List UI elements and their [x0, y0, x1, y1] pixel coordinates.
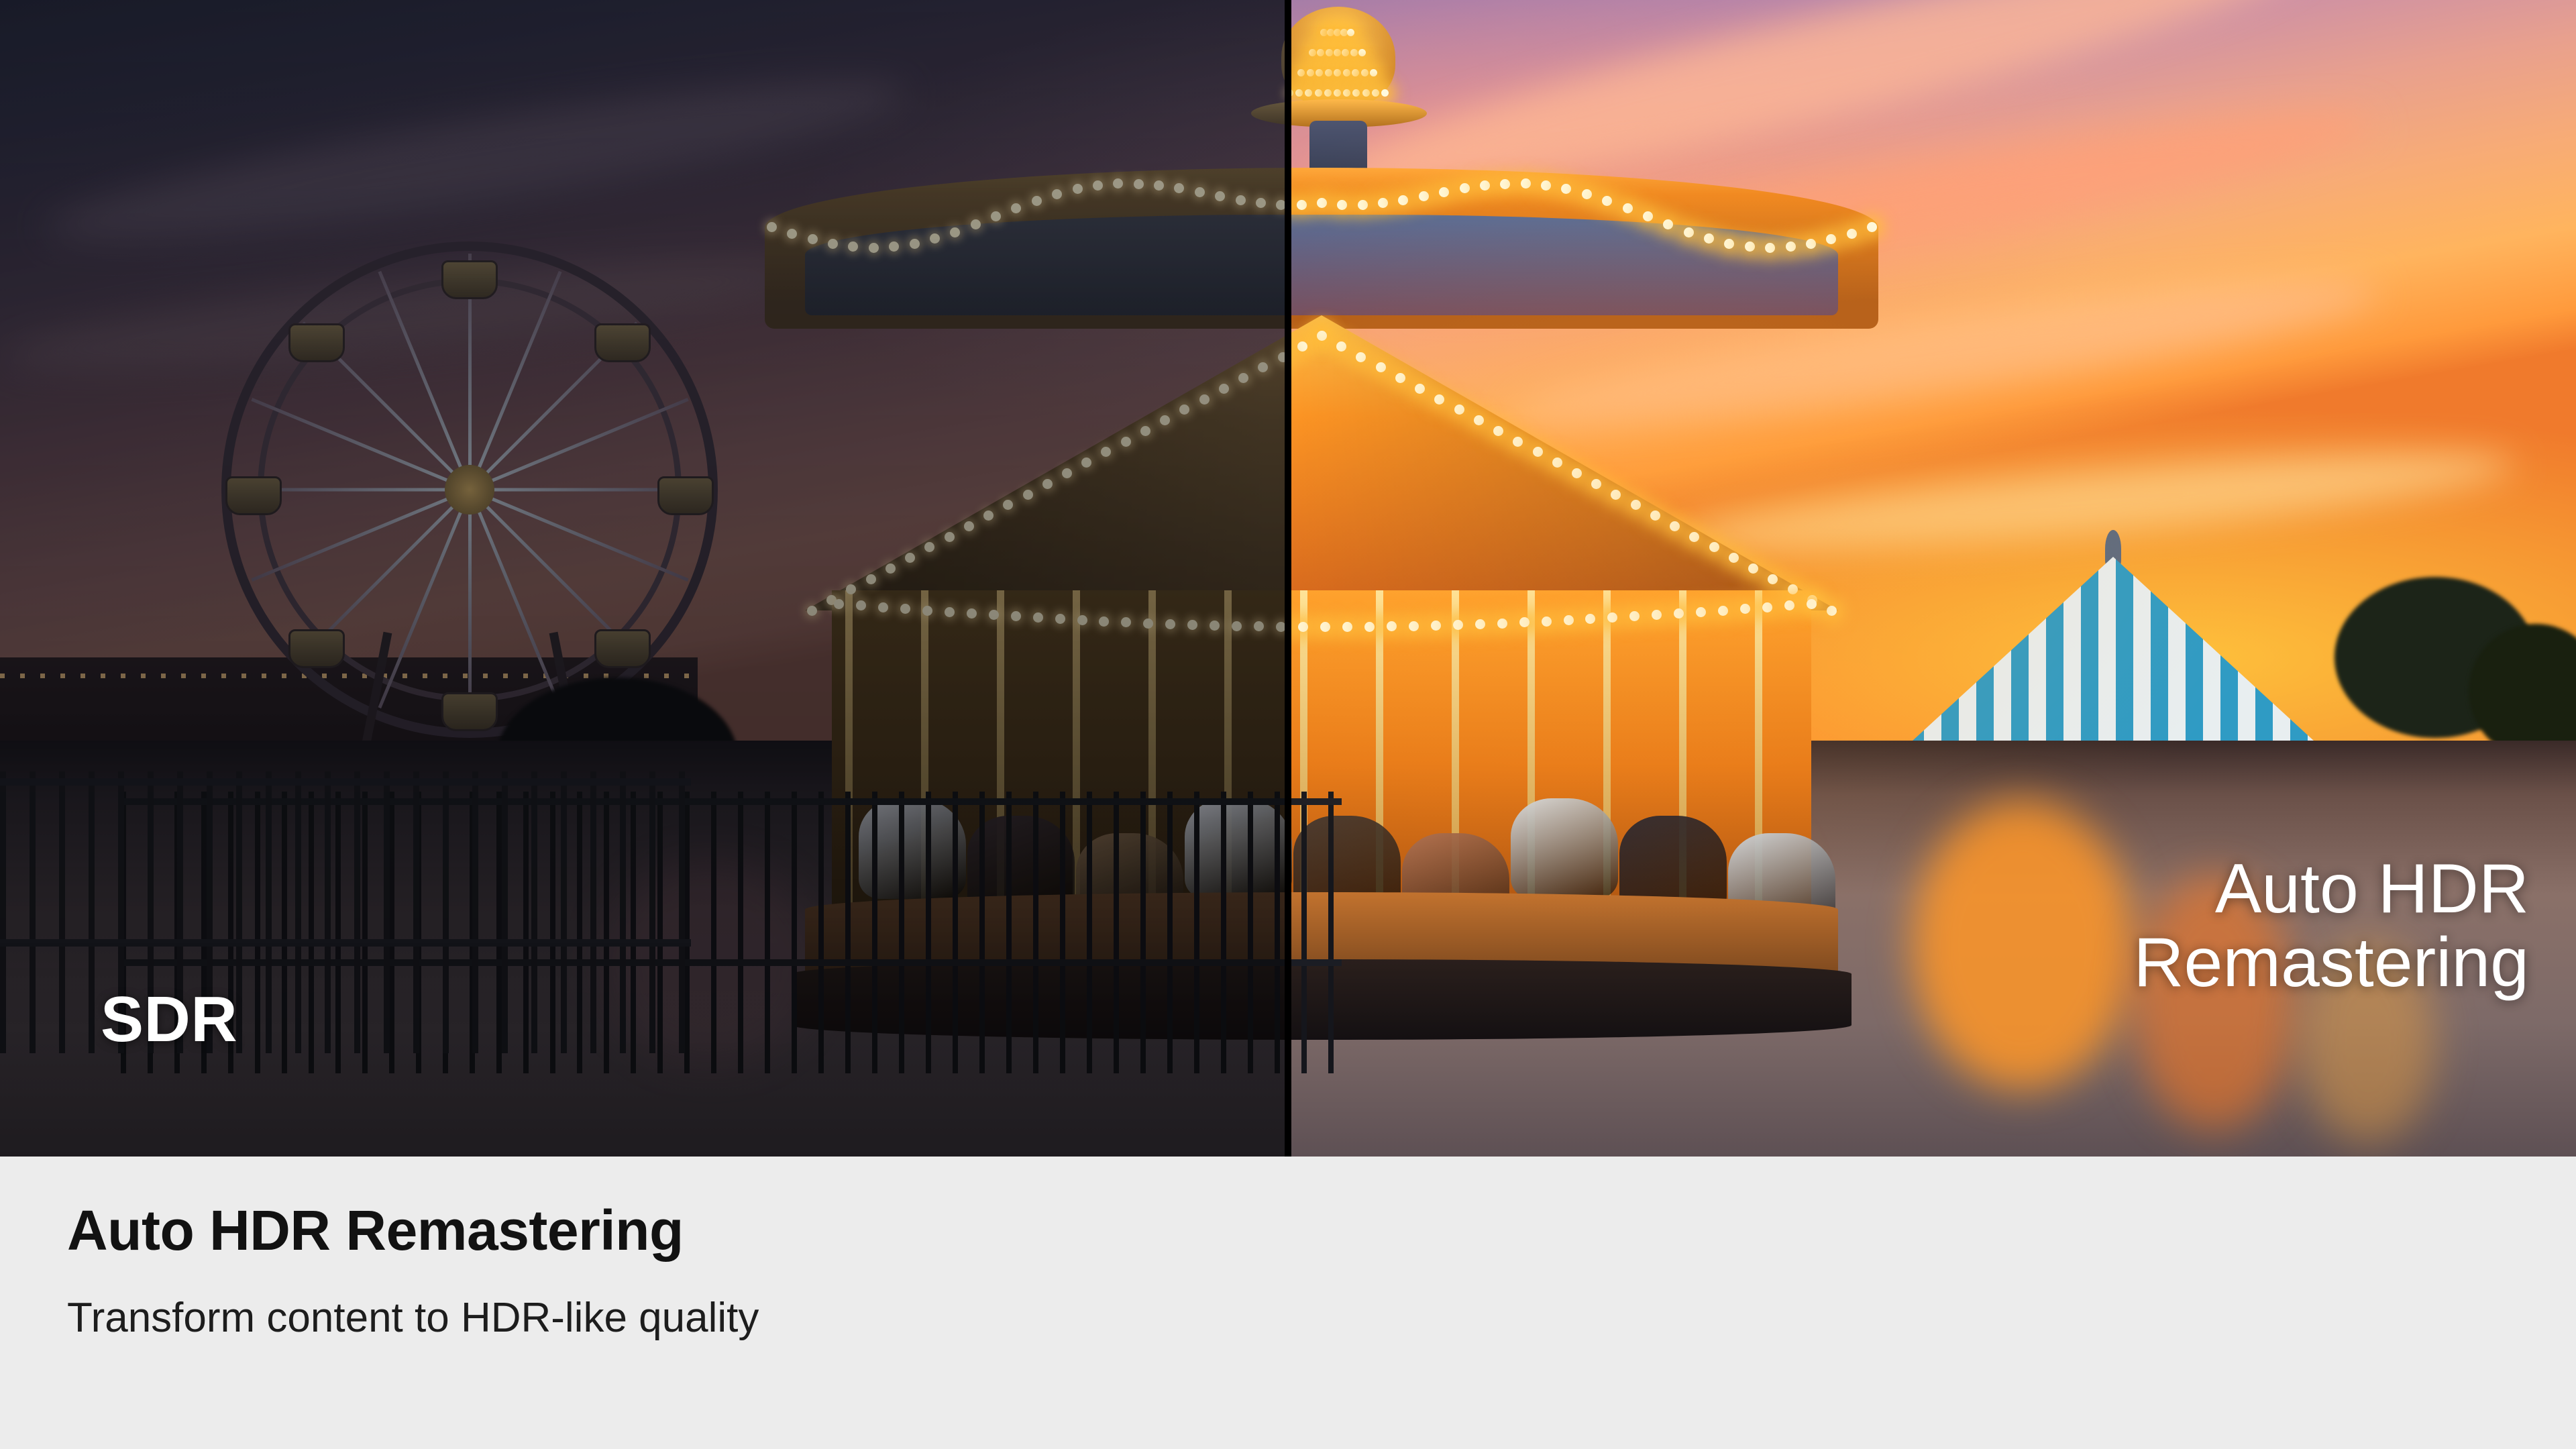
light-bulb: [1350, 49, 1358, 56]
light-bulb: [964, 521, 974, 531]
light-bulb: [1337, 200, 1347, 210]
light-bulb: [1807, 599, 1817, 609]
light-bulb: [1480, 180, 1490, 191]
light-bulb: [1387, 621, 1397, 631]
light-bulb: [971, 219, 981, 229]
ferris-wheel-gondola: [441, 692, 498, 731]
light-bulb: [787, 229, 797, 239]
light-bulb: [1521, 178, 1531, 189]
light-bulb: [1745, 241, 1755, 252]
light-bulb: [1042, 479, 1053, 489]
light-bulb: [1827, 606, 1837, 616]
light-bulb: [1454, 405, 1464, 415]
light-bulb: [1519, 617, 1529, 627]
light-bulb: [1361, 69, 1368, 76]
light-bulb: [1309, 49, 1316, 56]
light-bulb: [1631, 500, 1641, 510]
light-bulb: [1295, 89, 1303, 97]
light-bulb: [1134, 179, 1144, 189]
sdr-overlay-label: SDR: [101, 983, 237, 1057]
light-bulb: [1372, 89, 1379, 97]
light-bulb: [1493, 426, 1503, 436]
light-bulb: [1334, 89, 1341, 97]
hdr-overlay-label-line1: Auto HDR: [2133, 852, 2529, 926]
ferris-wheel-hub: [445, 465, 494, 515]
light-bulb: [1806, 239, 1816, 249]
light-bulb: [1298, 622, 1308, 632]
light-bulb: [1768, 574, 1778, 584]
light-bulb: [1542, 616, 1552, 627]
light-bulb: [1336, 341, 1346, 352]
light-bulb: [989, 610, 999, 620]
carousel: [1291, 0, 2012, 1046]
light-bulb: [1052, 189, 1062, 199]
light-bulb: [1453, 620, 1463, 630]
light-bulb: [1055, 614, 1065, 624]
light-bulb: [1297, 200, 1307, 210]
light-bulb: [1643, 211, 1653, 221]
light-bulb: [1334, 69, 1341, 76]
light-bulb: [1696, 607, 1706, 617]
before-after-comparison-viewer[interactable]: SDR Auto HDR Remastering: [0, 0, 2576, 1157]
light-bulb: [1232, 621, 1242, 631]
light-bulb: [1381, 89, 1389, 97]
light-bulb: [1023, 490, 1033, 500]
ferris-wheel-gondola: [288, 629, 345, 668]
light-bulb: [1210, 621, 1220, 631]
light-bulb: [1670, 521, 1680, 531]
feature-caption-panel: Auto HDR Remastering Transform content t…: [0, 1157, 2576, 1449]
light-bulb: [1342, 49, 1349, 56]
ferris-wheel-gondola: [225, 476, 282, 515]
comparison-divider[interactable]: [1285, 0, 1291, 1157]
light-bulb: [1497, 619, 1507, 629]
light-bulb: [1343, 89, 1350, 97]
light-bulb: [1362, 89, 1370, 97]
light-bulb: [945, 607, 955, 617]
light-bulb: [1709, 542, 1719, 552]
light-bulb: [1623, 203, 1633, 213]
light-bulb: [1358, 49, 1366, 56]
light-bulb: [1460, 183, 1470, 193]
light-bulb: [885, 563, 896, 574]
light-bulb: [1572, 468, 1582, 478]
light-bulb: [1195, 187, 1205, 197]
light-bulb: [869, 243, 879, 253]
light-bulb: [945, 532, 955, 542]
light-bulb: [834, 599, 844, 609]
light-bulb: [1867, 222, 1877, 232]
light-bulb: [1500, 179, 1510, 189]
light-bulb: [1724, 239, 1734, 249]
light-bulb: [1847, 229, 1857, 239]
light-bulb: [1073, 184, 1083, 194]
light-bulb: [1343, 69, 1350, 76]
light-bulb: [1718, 606, 1728, 616]
light-bulb: [828, 239, 838, 249]
ferris-wheel-spoke: [468, 490, 472, 726]
light-bulb: [922, 606, 932, 616]
light-bulb: [967, 608, 977, 619]
light-bulb: [1077, 615, 1087, 625]
light-bulb: [1320, 622, 1330, 632]
carousel-horse: [1511, 798, 1618, 899]
light-bulb: [1358, 200, 1368, 210]
light-bulb: [807, 606, 817, 616]
light-bulb: [1297, 69, 1305, 76]
feature-title: Auto HDR Remastering: [67, 1198, 2576, 1263]
light-bulb: [1199, 394, 1210, 405]
light-bulb: [1342, 622, 1352, 632]
light-bulb: [1276, 622, 1285, 632]
light-bulb: [1650, 511, 1660, 521]
light-bulb: [1434, 394, 1444, 405]
light-bulb: [1316, 69, 1323, 76]
light-bulb: [1762, 602, 1772, 612]
light-bulb: [1611, 490, 1621, 500]
light-bulb: [1062, 468, 1072, 478]
light-bulb: [950, 227, 960, 237]
light-bulb: [1582, 189, 1592, 199]
light-bulb: [1786, 241, 1796, 252]
light-bulb: [1409, 621, 1419, 631]
hdr-overlay-label: Auto HDR Remastering: [2133, 852, 2529, 1000]
light-bulb: [1032, 196, 1042, 206]
light-bulb: [1552, 458, 1562, 468]
light-bulb: [910, 239, 920, 249]
light-bulb: [1765, 243, 1775, 253]
light-bulb: [1788, 584, 1798, 594]
light-bulb: [1317, 331, 1327, 341]
ferris-wheel-gondola: [441, 260, 498, 299]
light-bulb: [767, 222, 777, 232]
light-bulb: [1431, 621, 1441, 631]
light-bulb: [1317, 198, 1327, 208]
light-bulb: [1364, 622, 1375, 632]
light-bulb: [1748, 563, 1758, 574]
light-bulb: [1315, 89, 1322, 97]
light-bulb: [1011, 611, 1021, 621]
light-bulb: [1684, 227, 1694, 237]
light-bulb: [1352, 89, 1360, 97]
light-bulb: [1513, 437, 1523, 447]
light-bulb: [1370, 69, 1377, 76]
light-bulb: [1347, 29, 1354, 36]
light-bulb: [1395, 373, 1405, 383]
light-bulb: [1305, 89, 1312, 97]
light-bulb: [1602, 196, 1612, 206]
light-bulb: [1474, 415, 1484, 425]
feature-subtitle: Transform content to HDR-like quality: [67, 1294, 2576, 1342]
light-bulb: [1564, 615, 1574, 625]
hdr-overlay-label-line2: Remastering: [2133, 926, 2529, 1000]
light-bulb: [1140, 426, 1150, 436]
light-bulb: [1278, 352, 1285, 362]
light-bulb: [1236, 195, 1246, 205]
light-bulb: [866, 574, 876, 584]
light-bulb: [808, 234, 818, 244]
light-bulb: [1297, 341, 1307, 352]
light-bulb: [878, 602, 888, 612]
light-bulb: [1689, 532, 1699, 542]
light-bulb: [1256, 198, 1266, 208]
light-bulb: [1591, 479, 1601, 489]
light-bulb: [1276, 200, 1285, 210]
light-bulb: [1219, 384, 1229, 394]
light-bulb: [1121, 437, 1131, 447]
light-bulb: [1326, 49, 1333, 56]
ferris-wheel-gondola: [288, 323, 345, 362]
light-bulb: [1352, 69, 1359, 76]
light-bulb: [1475, 619, 1485, 629]
light-bulb: [1143, 619, 1153, 629]
light-bulb: [1729, 553, 1739, 563]
light-bulb: [1356, 352, 1366, 362]
light-bulb: [1317, 49, 1324, 56]
auto-hdr-comparison-page: SDR Auto HDR Remastering Auto HDR Remast…: [0, 0, 2576, 1449]
light-bulb: [1415, 384, 1425, 394]
light-bulb: [900, 604, 910, 614]
light-bulb: [1376, 362, 1386, 372]
light-bulb: [1541, 180, 1551, 191]
light-bulb: [1533, 447, 1543, 457]
light-bulb: [1334, 49, 1341, 56]
light-bulb: [1033, 612, 1043, 623]
light-bulb: [1419, 191, 1429, 201]
light-bulb: [1307, 69, 1314, 76]
carousel-fence: [1291, 792, 1342, 1073]
light-bulb: [1324, 89, 1332, 97]
light-bulb: [1291, 89, 1293, 97]
light-bulb: [1325, 69, 1332, 76]
light-bulb: [1093, 180, 1103, 191]
